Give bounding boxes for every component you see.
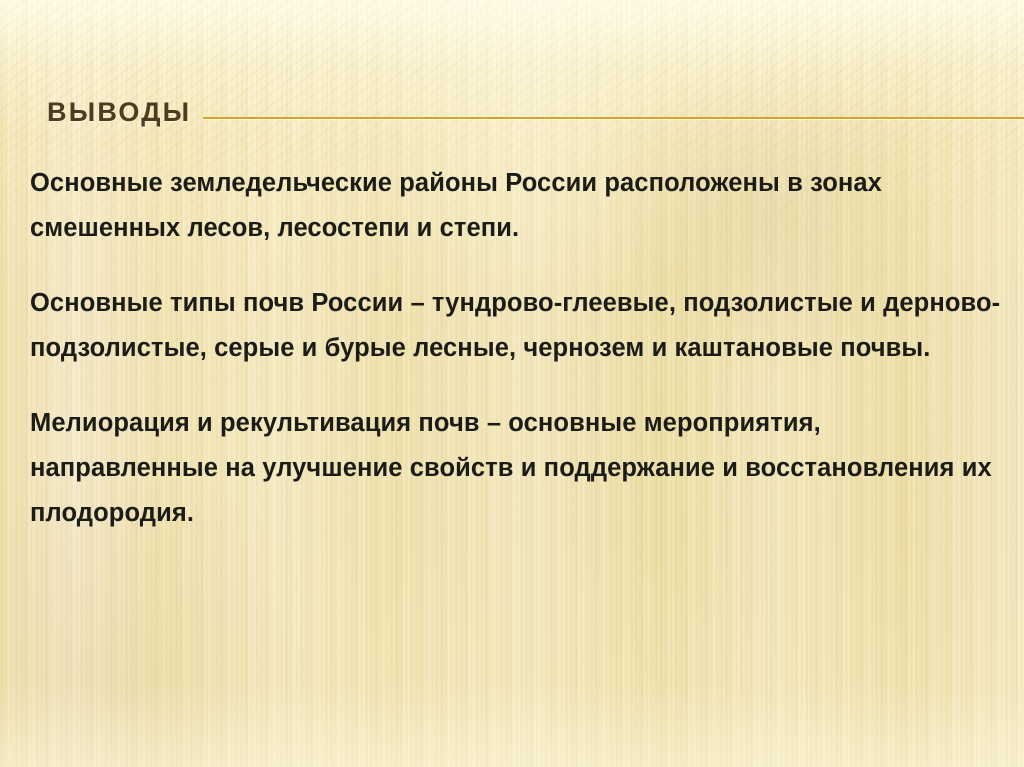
title-divider-rule — [203, 117, 1024, 119]
slide-title-row: ВЫВОДЫ — [0, 78, 1024, 126]
slide-content: ВЫВОДЫ Основные земледельческие районы Р… — [0, 0, 1024, 767]
slide-body: Основные земледельческие районы России р… — [30, 161, 1002, 536]
presentation-slide: ВЫВОДЫ Основные земледельческие районы Р… — [0, 0, 1024, 767]
page-title: ВЫВОДЫ — [47, 99, 191, 126]
conclusion-paragraph-1: Основные земледельческие районы России р… — [30, 161, 1002, 251]
conclusion-paragraph-2: Основные типы почв России – тундрово-гле… — [30, 281, 1002, 371]
conclusion-paragraph-3: Мелиорация и рекультивация почв – основн… — [30, 401, 1002, 536]
